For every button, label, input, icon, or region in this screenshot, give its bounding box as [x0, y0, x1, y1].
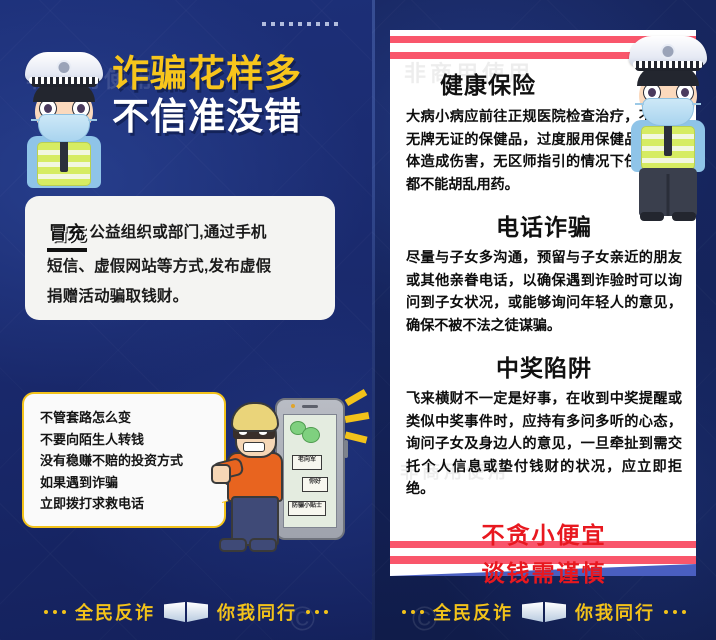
slogan-line-1: 不贪小便宜 — [406, 517, 682, 555]
footer-dots-right-2 — [664, 610, 686, 614]
phone-message-1: 老向军 — [292, 455, 322, 470]
speech-bubble: 不管套路怎么变 不要向陌生人转钱 没有稳赚不赔的投资方式 如果遇到诈骗 立即拨打… — [22, 392, 226, 528]
speech-bubble-lines: 不管套路怎么变 不要向陌生人转钱 没有稳赚不赔的投资方式 如果遇到诈骗 立即拨打… — [40, 407, 214, 515]
impact-line-2 — [345, 412, 370, 423]
phone-message-2: 你好 — [302, 477, 328, 492]
bubble-line-1: 不管套路怎么变 — [40, 407, 214, 429]
open-book-icon-2 — [522, 602, 566, 622]
headline-line-2: 不信准没错 — [112, 97, 358, 136]
left-panel: 非商用使用 非商用使用 © 诈骗花样多 不信准没错 冒充公益组织或部门,通过手机… — [0, 0, 372, 640]
footer-text-right-2: 你我同行 — [575, 599, 655, 625]
dot-decoration-left — [262, 22, 338, 26]
policeman-character-left — [12, 52, 116, 202]
info-card-stamp: 冒充 — [47, 218, 87, 252]
policeman-character-right — [620, 36, 716, 212]
bubble-line-3: 没有稳赚不赔的投资方式 — [40, 450, 214, 472]
info-card-line-2: 短信、虚假网站等方式,发布虚假 — [47, 258, 271, 275]
footer-text-left: 全民反诈 — [75, 599, 155, 625]
scam-scene: 老向军 你好 防骗小贴士 — [215, 388, 365, 548]
phone-speaker — [302, 405, 318, 408]
info-card-line-1: 公益组织或部门,通过手机 — [89, 224, 266, 241]
footer-dots-right — [306, 610, 328, 614]
impact-line-1 — [345, 389, 368, 406]
info-card-body: 冒充公益组织或部门,通过手机 短信、虚假网站等方式,发布虚假 捐赠活动骗取钱财。 — [47, 218, 317, 312]
headline-block: 诈骗花样多 不信准没错 — [112, 54, 358, 136]
phone-camera-icon — [291, 404, 295, 408]
chat-bubble-icon-2 — [302, 427, 320, 443]
bubble-line-5: 立即拨打求救电话 — [40, 493, 214, 515]
footer-dots-left — [44, 610, 66, 614]
phone-screen: 老向军 你好 防骗小贴士 — [283, 414, 337, 528]
scammer-character — [215, 402, 287, 542]
footer-dots-left-2 — [402, 610, 424, 614]
info-card-line-3: 捐赠活动骗取钱财。 — [47, 288, 188, 305]
footer-banner-right: 全民反诈 你我同行 — [372, 584, 716, 640]
section-body-2: 尽量与子女多沟通，预留与子女亲近的朋友或其他亲眷电话，以确保遇到诈验时可以询问到… — [406, 247, 682, 337]
bubble-line-4: 如果遇到诈骗 — [40, 472, 214, 494]
phone-message-3: 防骗小贴士 — [288, 501, 326, 516]
anti-fraud-poster: 非商用使用 非商用使用 © 诈骗花样多 不信准没错 冒充公益组织或部门,通过手机… — [0, 0, 716, 640]
open-book-icon — [164, 602, 208, 622]
info-card: 冒充公益组织或部门,通过手机 短信、虚假网站等方式,发布虚假 捐赠活动骗取钱财。 — [25, 196, 335, 320]
footer-text-right: 你我同行 — [217, 599, 297, 625]
section-body-3: 飞来横财不一定是好事，在收到中奖提醒或类似中奖事件时，应持有多问多听的心态，询问… — [406, 388, 682, 501]
headline-line-1: 诈骗花样多 — [112, 54, 358, 93]
slogan-block: 不贪小便宜 谈钱需谨慎 — [406, 517, 682, 593]
phone-side-button — [344, 440, 348, 458]
section-heading-3: 中奖陷阱 — [406, 349, 682, 383]
bubble-line-2: 不要向陌生人转钱 — [40, 429, 214, 451]
footer-text-left-2: 全民反诈 — [433, 599, 513, 625]
footer-banner-left: 全民反诈 你我同行 — [0, 584, 372, 640]
